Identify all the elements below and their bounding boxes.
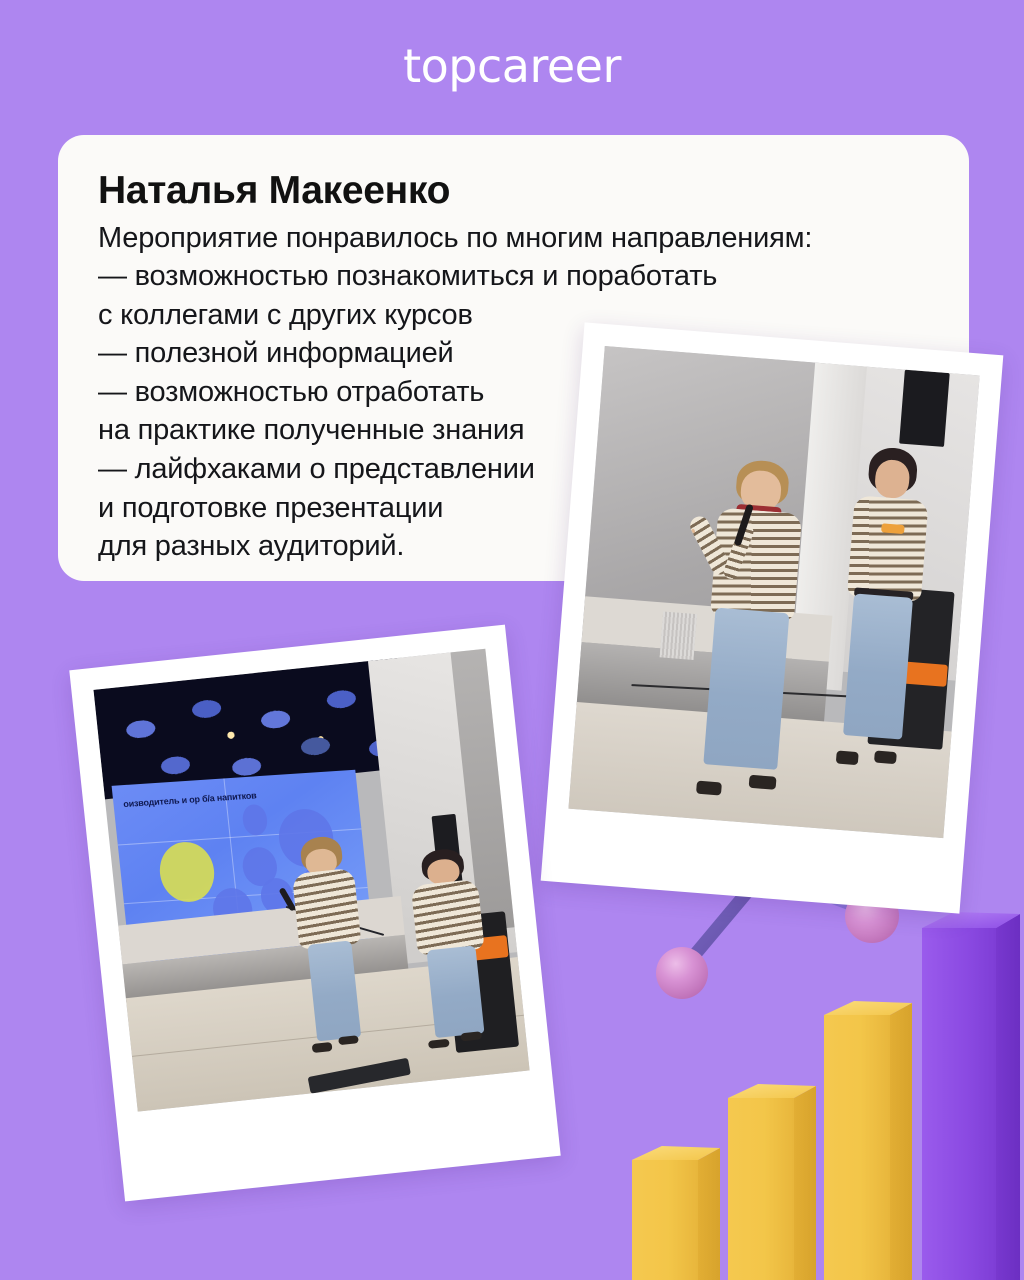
chart-bar-4 [922,912,1020,1280]
photo-frame-presentation[interactable]: оизводитель и ор б/а напитков [69,625,560,1202]
striped-sweater [291,867,361,949]
head [874,459,911,499]
slide-title: оизводитель и ор б/а напитков [123,790,257,810]
jeans [426,946,484,1038]
loudspeaker-icon [899,370,950,448]
brand-header: topcareer [0,0,1024,132]
chart-bar-2 [728,1084,816,1280]
shoe [835,750,858,764]
quote-line: с коллегами с других курсов [98,296,929,335]
radiator [660,611,697,660]
name-badge [881,523,904,534]
chart-bar-1 [632,1146,720,1280]
photo-presentation: оизводитель и ор б/а напитков [93,649,529,1112]
shoe [339,1035,360,1045]
quote-line: — возможностью познакомиться и поработат… [98,257,929,296]
chart-bar-3 [824,1001,912,1280]
photo-frame-speakers[interactable] [541,322,1004,913]
jeans [307,940,361,1042]
photo-speakers [568,346,979,838]
shoe [749,775,777,790]
decorative-3d-chart [624,850,1024,1280]
jeans [703,608,790,770]
shoe [874,750,897,764]
striped-sweater [847,495,929,601]
topcareer-logo[interactable]: topcareer [403,43,621,89]
quote-line: Мероприятие понравилось по многим направ… [98,219,929,258]
slide-bubble [241,804,269,836]
shoe [460,1032,482,1042]
author-name: Наталья Макеенко [98,169,929,213]
striped-sweater [410,879,484,956]
hand [691,528,695,532]
jeans [843,594,913,740]
slide-bubble [157,840,217,904]
shoe [696,781,722,796]
